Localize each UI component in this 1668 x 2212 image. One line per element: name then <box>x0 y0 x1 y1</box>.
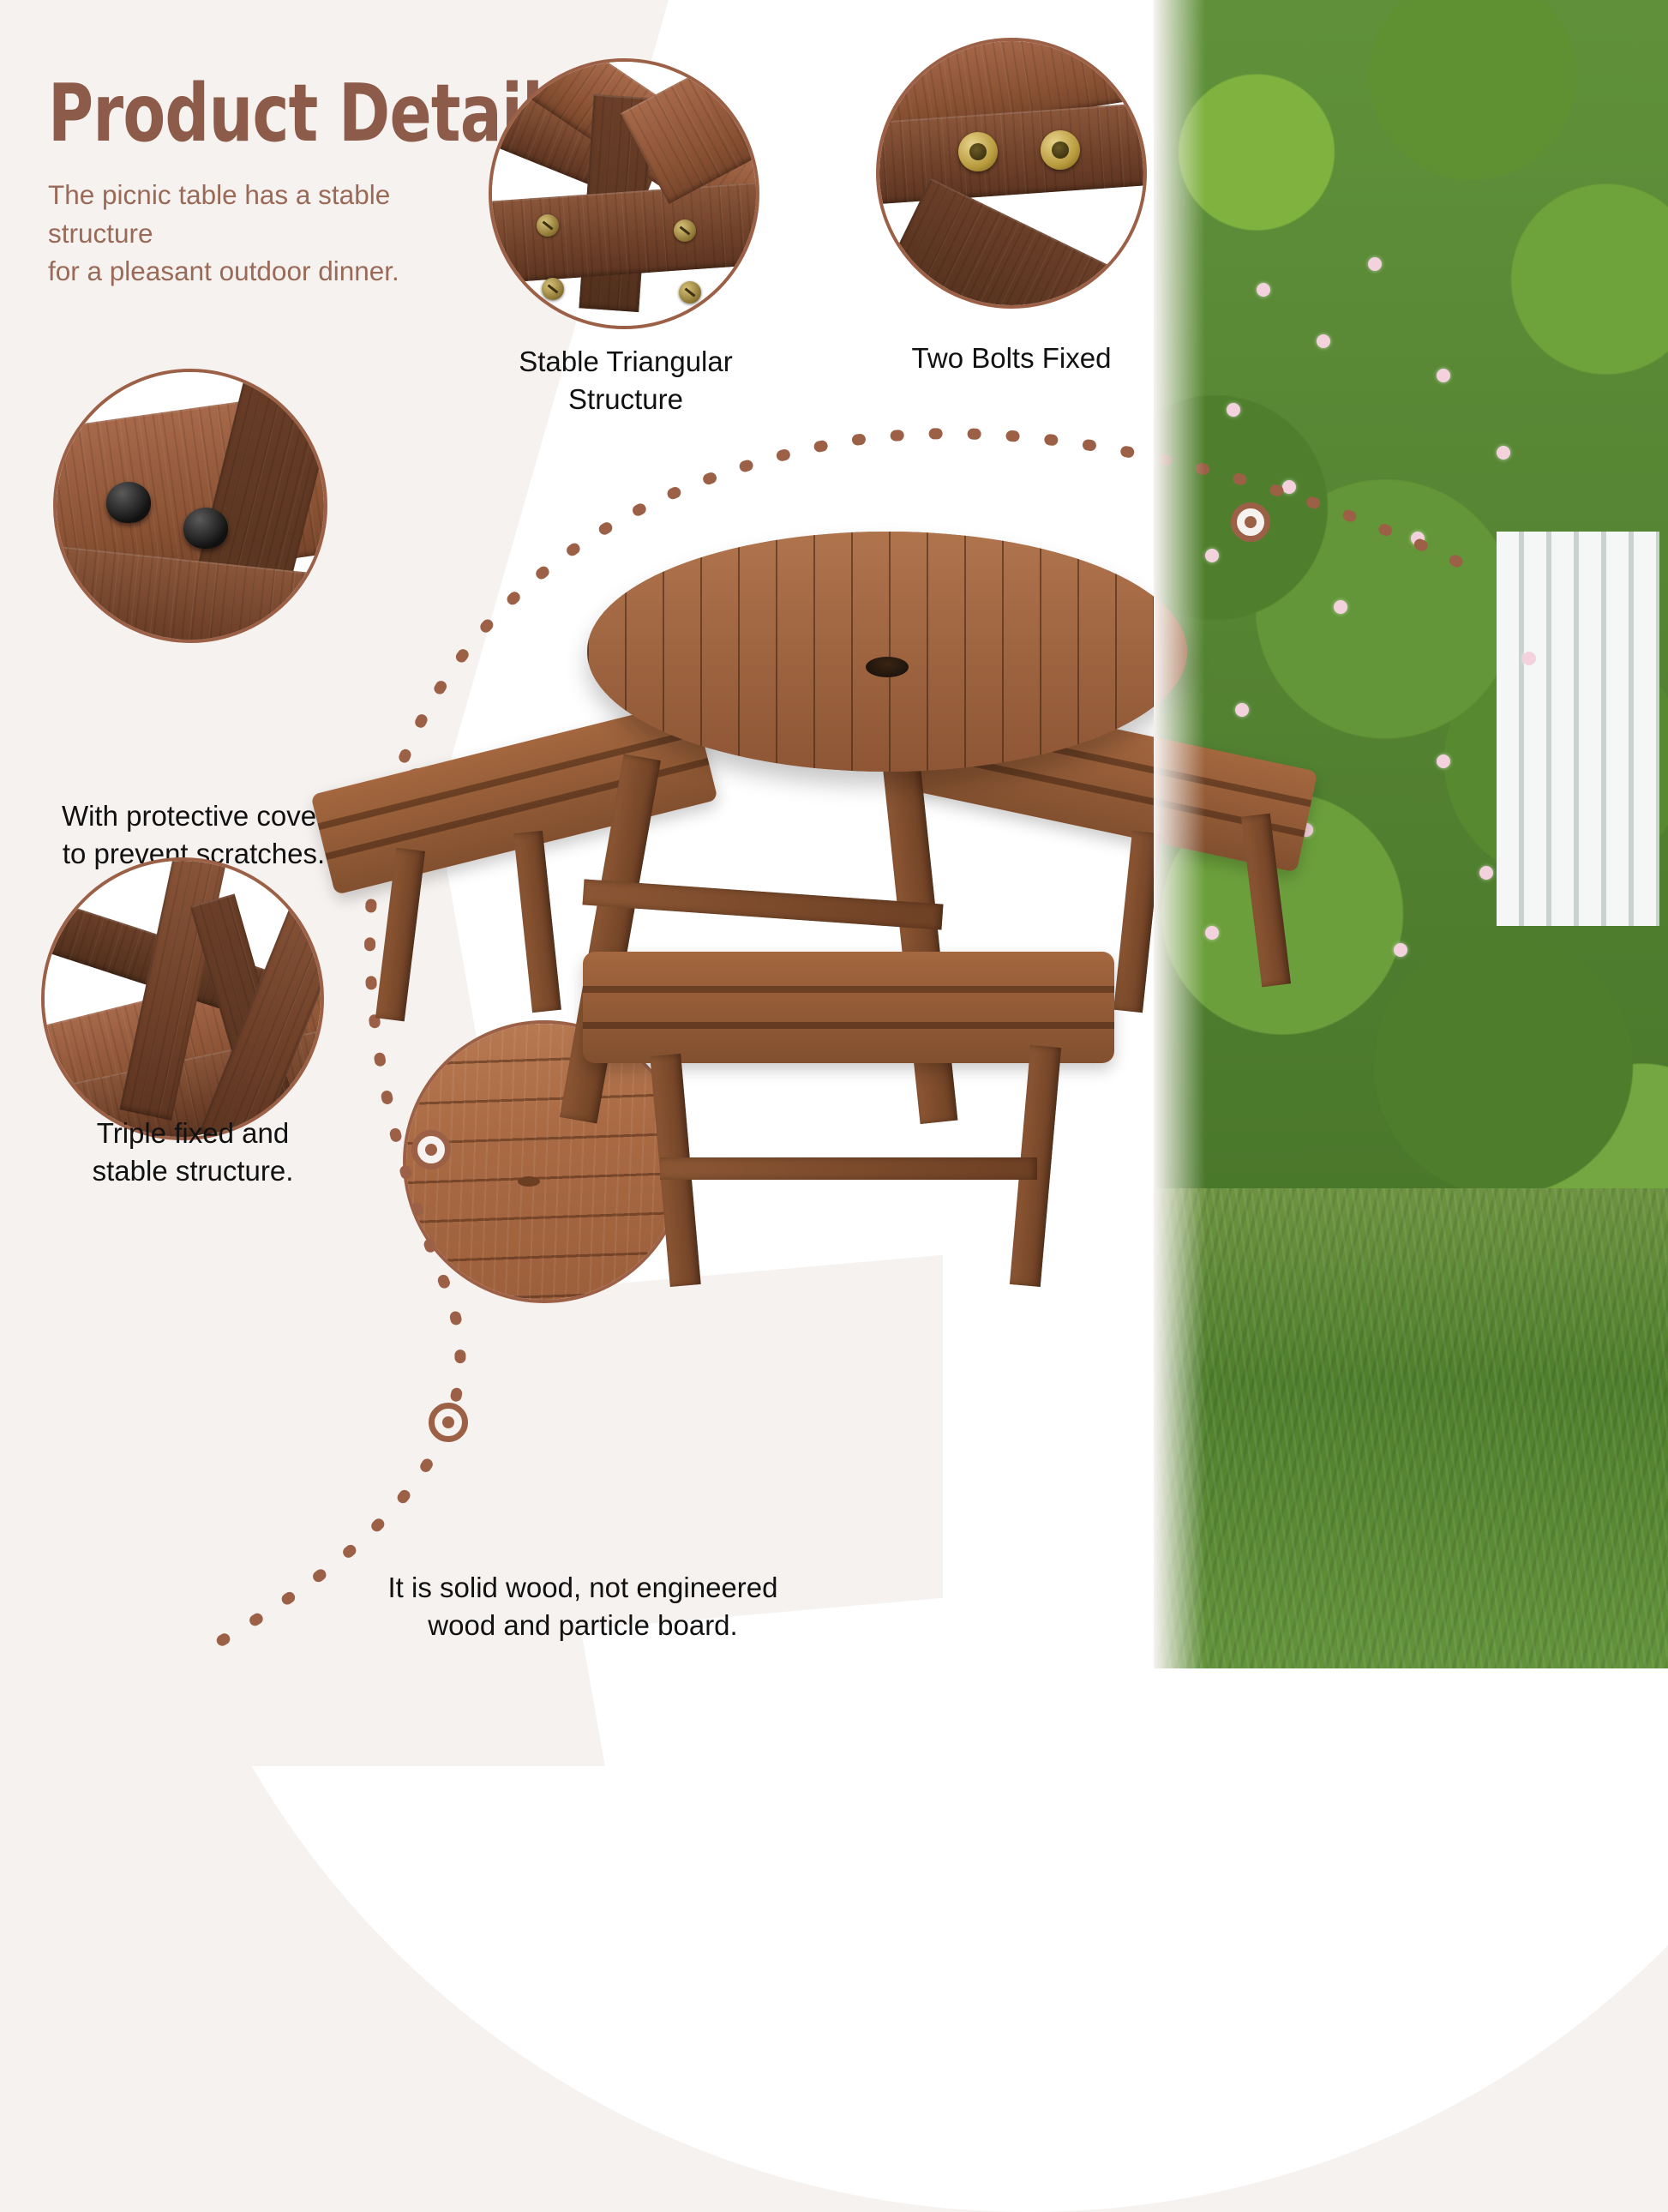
bolt-icon <box>958 132 998 171</box>
detail-photo-two-bolts-fixed <box>876 38 1147 309</box>
caption-line-1: Triple fixed and <box>34 1115 351 1152</box>
table-cross-brace <box>582 879 943 929</box>
path-marker-ring <box>429 1403 468 1442</box>
caption-line-2: stable structure. <box>34 1152 351 1190</box>
screw-icon <box>679 281 701 304</box>
caption-solid-wood: It is solid wood, not engineered wood an… <box>283 1569 883 1644</box>
caption-line-1: Stable Triangular <box>463 343 789 381</box>
bench-left-leg <box>513 831 561 1013</box>
detail-photo-stable-triangular-structure <box>489 58 759 329</box>
detail-photo-triple-fixed-structure <box>41 857 324 1140</box>
protective-cap-photo <box>57 372 324 640</box>
wood-bolt-joint-photo <box>879 41 1143 305</box>
garden-edge-fade <box>1154 0 1205 1668</box>
bench-front-brace <box>660 1157 1037 1180</box>
caption-stable-triangular-structure: Stable Triangular Structure <box>463 343 789 418</box>
caption-line-2: wood and particle board. <box>283 1607 883 1644</box>
caption-line-1: It is solid wood, not engineered <box>283 1569 883 1607</box>
umbrella-hole <box>866 657 909 677</box>
garden-lawn <box>1154 1188 1668 1668</box>
bolt-icon <box>1041 130 1080 170</box>
caption-two-bolts-fixed: Two Bolts Fixed <box>849 340 1174 377</box>
screw-icon <box>537 214 559 237</box>
path-marker-ring <box>1231 502 1270 542</box>
screw-icon <box>674 219 696 242</box>
wood-brace-photo <box>492 62 756 326</box>
page-title: Product Detail <box>48 74 476 153</box>
detail-photo-protective-cover <box>53 369 327 643</box>
screw-icon <box>542 278 564 300</box>
caption-triple-fixed-structure: Triple fixed and stable structure. <box>34 1115 351 1190</box>
page-subtitle-line-1: The picnic table has a stable structure <box>48 176 494 252</box>
table-top <box>587 532 1187 772</box>
protective-cap-icon <box>183 508 228 549</box>
main-product-photo <box>369 634 1226 1406</box>
caption-line-1: Two Bolts Fixed <box>849 340 1174 377</box>
infographic-canvas: Product Detail The picnic table has a st… <box>0 0 1668 1668</box>
garden-fence <box>1497 532 1659 926</box>
page-subtitle: The picnic table has a stable structure … <box>48 176 494 291</box>
caption-line-2: Structure <box>463 381 789 418</box>
protective-cap-icon <box>106 482 151 523</box>
bench-underside-photo <box>45 861 321 1137</box>
page-subtitle-line-2: for a pleasant outdoor dinner. <box>48 252 494 291</box>
